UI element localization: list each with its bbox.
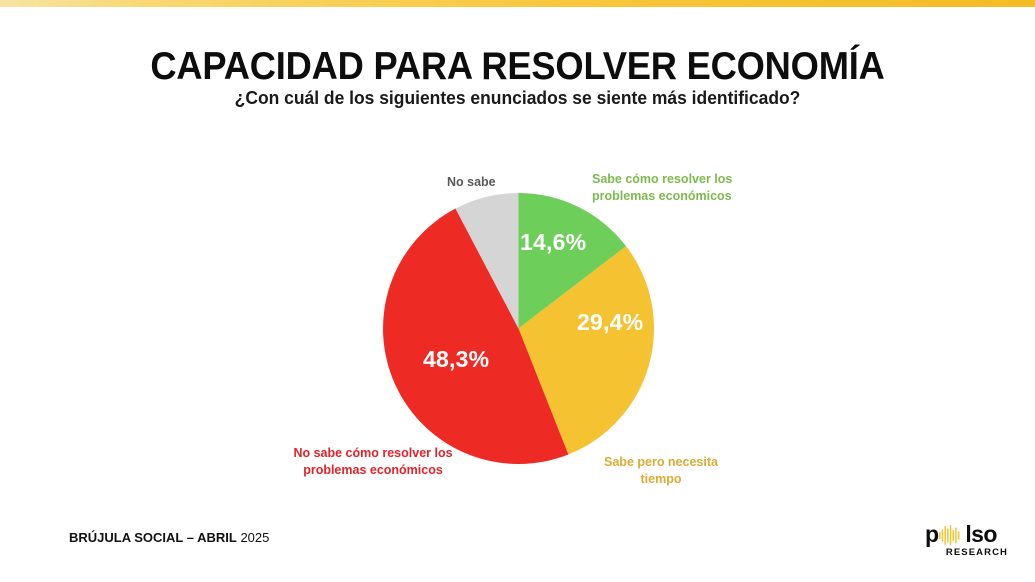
slice-label-red-line2: problemas económicos: [264, 462, 482, 479]
pulse-bar: [953, 530, 955, 541]
slice-label-amber: Sabe pero necesita tiempo: [566, 454, 756, 488]
pulse-bar: [958, 532, 960, 540]
pulso-research-logo: puulso RESEARCH: [925, 523, 1009, 559]
slide-canvas: CAPACIDAD PARA RESOLVER ECONOMÍA ¿Con cu…: [0, 0, 1035, 582]
footer-study-year: 2025: [240, 530, 269, 545]
footer-study-name: BRÚJULA SOCIAL – ABRIL: [69, 530, 237, 545]
slice-label-green: Sabe cómo resolver los problemas económi…: [592, 171, 732, 205]
slice-label-amber-line2: tiempo: [566, 471, 756, 488]
slice-label-red: No sabe cómo resolver los problemas econ…: [264, 445, 482, 479]
slice-label-amber-line1: Sabe pero necesita: [566, 454, 756, 471]
logo-word-start: p: [925, 521, 938, 547]
pulse-bar: [942, 530, 944, 542]
logo-wordmark: puulso: [925, 523, 1009, 546]
slice-label-red-line1: No sabe cómo resolver los: [264, 445, 482, 462]
slice-label-green-line2: problemas económicos: [592, 188, 732, 205]
logo-tagline: RESEARCH: [925, 547, 1009, 558]
slice-value-green: 14,6%: [520, 229, 586, 256]
slice-label-gray: No sabe: [447, 174, 496, 191]
footer-study-note: BRÚJULA SOCIAL – ABRIL 2025: [69, 529, 269, 547]
pulse-bar: [947, 529, 949, 543]
slice-value-amber: 29,4%: [577, 309, 643, 336]
slice-label-green-line1: Sabe cómo resolver los: [592, 171, 732, 188]
logo-word-end: lso: [965, 521, 996, 547]
page-title: CAPACIDAD PARA RESOLVER ECONOMÍA: [36, 44, 999, 90]
pulse-bar: [944, 526, 946, 545]
pulse-waveform-icon: [938, 524, 960, 545]
pulse-bar: [939, 532, 941, 539]
pulse-bar: [950, 525, 952, 545]
pulse-bar: [955, 528, 957, 544]
slice-value-red: 48,3%: [423, 346, 489, 373]
slice-label-gray-line1: No sabe: [447, 174, 496, 191]
top-accent-bar: [0, 0, 1035, 7]
page-subtitle: ¿Con cuál de los siguientes enunciados s…: [16, 86, 1020, 110]
